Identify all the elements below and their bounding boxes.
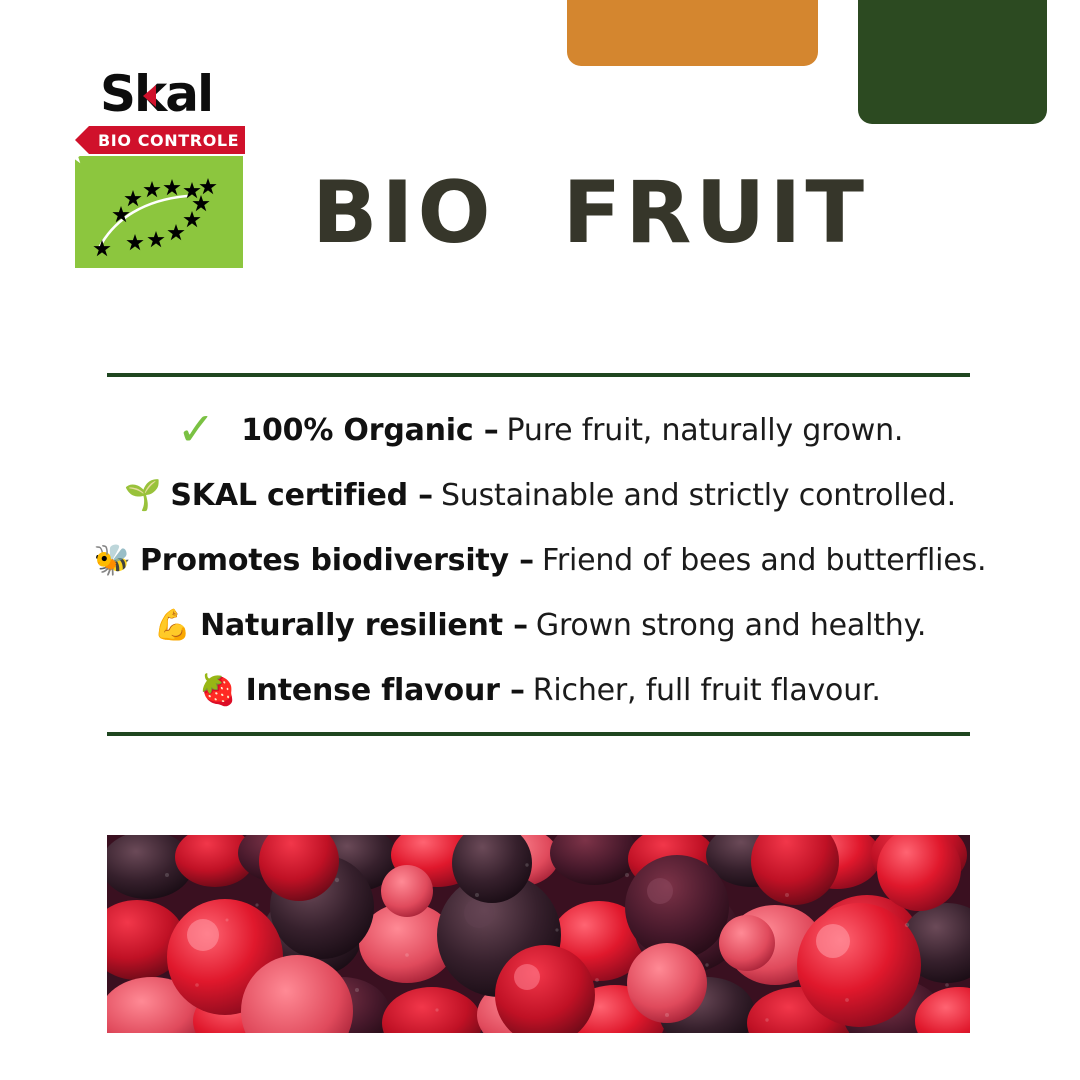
divider-top <box>107 373 970 377</box>
benefits-list: ✓ 100% Organic – Pure fruit, naturally g… <box>0 398 1080 723</box>
benefit-title: Intense flavour – <box>246 673 525 708</box>
list-item: 🍓 Intense flavour – Richer, full fruit f… <box>0 658 1080 723</box>
check-mark-icon: ✓ <box>177 406 216 452</box>
bio-controle-banner: BIO CONTROLE <box>75 126 245 154</box>
honeybee-icon: 🐝 <box>94 546 131 576</box>
benefit-title: Naturally resilient – <box>200 608 528 643</box>
skal-wordmark-text: Skal <box>100 68 250 120</box>
benefit-title: 100% Organic – <box>241 413 498 448</box>
benefit-description: Friend of bees and butterflies. <box>542 543 986 578</box>
benefit-description: Pure fruit, naturally grown. <box>507 413 904 448</box>
list-item: 🐝 Promotes biodiversity – Friend of bees… <box>0 528 1080 593</box>
benefit-description: Sustainable and strictly controlled. <box>441 478 956 513</box>
benefit-description: Grown strong and healthy. <box>536 608 926 643</box>
divider-bottom <box>107 732 970 736</box>
flexed-biceps-icon: 💪 <box>154 611 191 641</box>
eu-organic-leaf-icon <box>75 156 243 268</box>
list-item: 💪 Naturally resilient – Grown strong and… <box>0 593 1080 658</box>
frozen-mixed-berries-photo <box>107 835 970 1033</box>
list-item: ✓ 100% Organic – Pure fruit, naturally g… <box>0 398 1080 463</box>
list-item: 🌱 SKAL certified – Sustainable and stric… <box>0 463 1080 528</box>
benefit-title: Promotes biodiversity – <box>140 543 534 578</box>
page-title: BIO FRUIT <box>312 170 868 256</box>
orange-accent-block <box>567 0 818 66</box>
benefit-title: SKAL certified – <box>170 478 433 513</box>
bio-controle-banner-label: BIO CONTROLE <box>98 131 239 150</box>
skal-wordmark: Skal <box>100 68 250 120</box>
skal-red-chevron-icon <box>143 85 156 107</box>
green-accent-block <box>858 0 1047 124</box>
skal-bio-controle-logo: Skal BIO CONTROLE <box>75 68 250 268</box>
benefit-description: Richer, full fruit flavour. <box>533 673 881 708</box>
seedling-icon: 🌱 <box>124 481 161 511</box>
strawberry-icon: 🍓 <box>199 676 236 706</box>
